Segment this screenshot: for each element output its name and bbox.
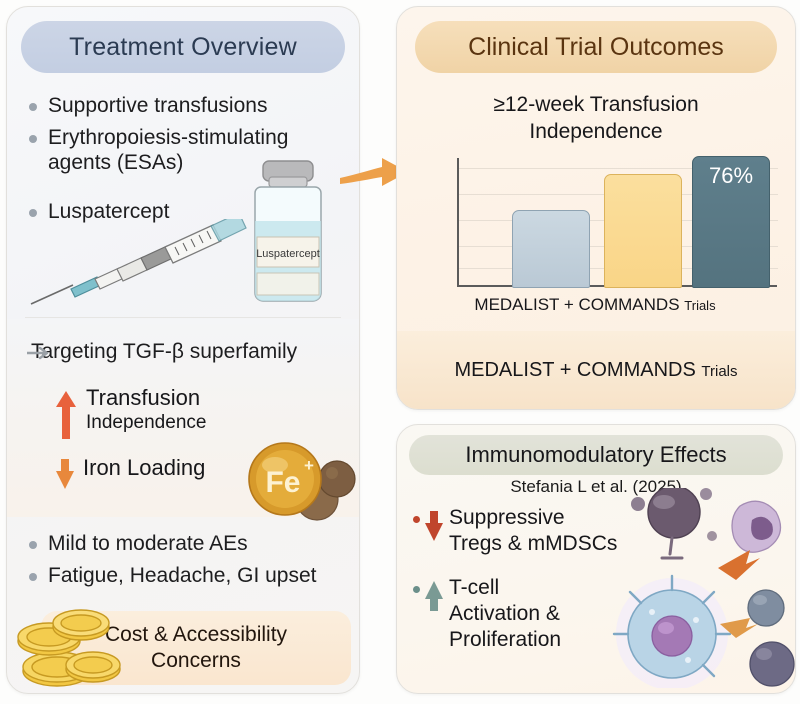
arrow-up-icon [55,389,77,441]
vial-label-text: Luspatercept [256,248,320,260]
bullet-dot-icon [29,135,37,143]
list-item: Mild to moderate AEs [29,531,347,556]
effect-title: Iron Loading [83,455,205,481]
bar-3-value-label: 76% [693,163,769,189]
trials-footer-small: Trials [701,363,737,380]
chart-subtitle: ≥12-week Transfusion Independence [421,91,771,145]
effect-title: Transfusion [86,385,206,411]
treatment-overview-title: Treatment Overview [69,33,297,62]
mechanism-text: Targeting TGF-β superfamily [31,339,297,364]
chart-x-axis-label-small: Trials [684,298,715,313]
bullet-dot-icon [413,516,420,523]
bar-3: 76% [692,156,770,288]
bullet-dot-icon [29,103,37,111]
arrow-down-icon [424,509,444,543]
arrow-right-icon [27,345,53,361]
transfusion-independence-bar-chart: 76% [452,158,782,290]
vial-illustration: Luspatercept [235,159,341,307]
chart-x-axis-label-main: MEDALIST + COMMANDS [474,295,679,314]
mechanism-row: Targeting TGF-β superfamily [27,339,347,364]
bullet-dot-icon [29,209,37,217]
clinical-trial-outcomes-header: Clinical Trial Outcomes [415,21,777,73]
treatment-overview-panel: Treatment Overview Supportive transfusio… [6,6,360,694]
bullet-dot-icon [413,586,420,593]
list-item: Supportive transfusions [29,93,347,118]
effect-iron-loading: Iron Loading [55,455,255,491]
divider [25,317,341,318]
bullet-line-2: Tregs & mMDSCs [449,531,617,557]
infographic-root: Treatment Overview Supportive transfusio… [0,0,800,704]
iron-fe-icon: Fe + [239,437,360,523]
chart-x-axis-label: MEDALIST + COMMANDS Trials [396,295,794,315]
effect-transfusion-independence: Transfusion Independence [55,385,345,441]
immune-cells-illustration [600,488,796,688]
syringe-illustration [27,219,259,311]
chart-subtitle-line-2: Independence [421,118,771,145]
bar-1 [512,210,590,288]
fe-charge: + [304,456,314,475]
chart-y-axis [457,158,459,286]
bullet-text: Supportive transfusions [48,93,267,118]
bullet-line-1: T-cell [449,575,561,601]
arrow-up-icon [424,579,444,613]
arrow-down-icon [55,457,75,491]
bullet-text: Fatigue, Headache, GI upset [48,563,317,588]
immunomodulatory-effects-header: Immunomodulatory Effects [409,435,783,475]
treatment-overview-header: Treatment Overview [21,21,345,73]
trials-footer-band: MEDALIST + COMMANDS Trials [397,331,795,409]
immunomodulatory-effects-title: Immunomodulatory Effects [465,442,726,468]
clinical-trial-outcomes-title: Clinical Trial Outcomes [468,33,724,62]
list-item: Fatigue, Headache, GI upset [29,563,359,588]
bullet-text: Mild to moderate AEs [48,531,248,556]
effect-subtitle: Independence [86,411,206,434]
bullet-dot-icon [29,573,37,581]
coins-illustration [15,595,145,691]
bullet-line-2: Activation & [449,601,561,627]
bar-2 [604,174,682,288]
fe-label: Fe [265,466,300,499]
bullet-dot-icon [29,541,37,549]
bullet-line-1: Suppressive [449,505,617,531]
trials-footer-main: MEDALIST + COMMANDS [454,359,695,381]
bullet-line-3: Proliferation [449,627,561,653]
chart-subtitle-line-1: ≥12-week Transfusion [421,91,771,118]
